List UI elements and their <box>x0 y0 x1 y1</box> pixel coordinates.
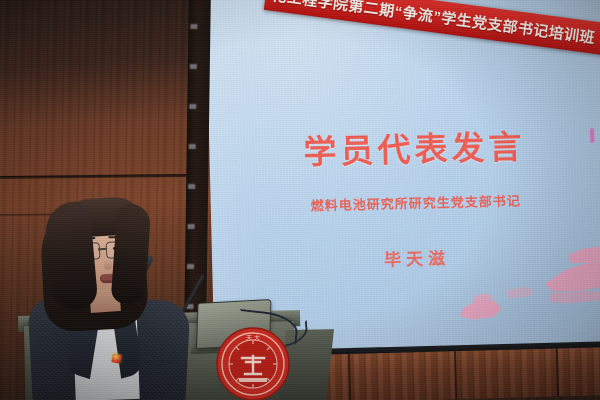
slide-subtitle: 燃料电池研究所研究生党支部书记 <box>211 188 600 217</box>
presentation-photo: 学员代表发言 燃料电池研究所研究生党支部书记 毕天滋 <box>0 0 600 400</box>
lapel-pin-badge <box>111 353 122 364</box>
slide-title: 学员代表发言 <box>209 118 600 176</box>
slide-accent-mark <box>590 129 594 143</box>
svg-text:天 大: 天 大 <box>246 334 260 342</box>
slide-skyline-decoration-icon <box>448 246 600 334</box>
speaker-person <box>28 196 198 400</box>
glasses-bridge <box>98 248 106 250</box>
nose <box>104 260 112 270</box>
university-emblem-icon: 天 大 <box>215 326 291 400</box>
